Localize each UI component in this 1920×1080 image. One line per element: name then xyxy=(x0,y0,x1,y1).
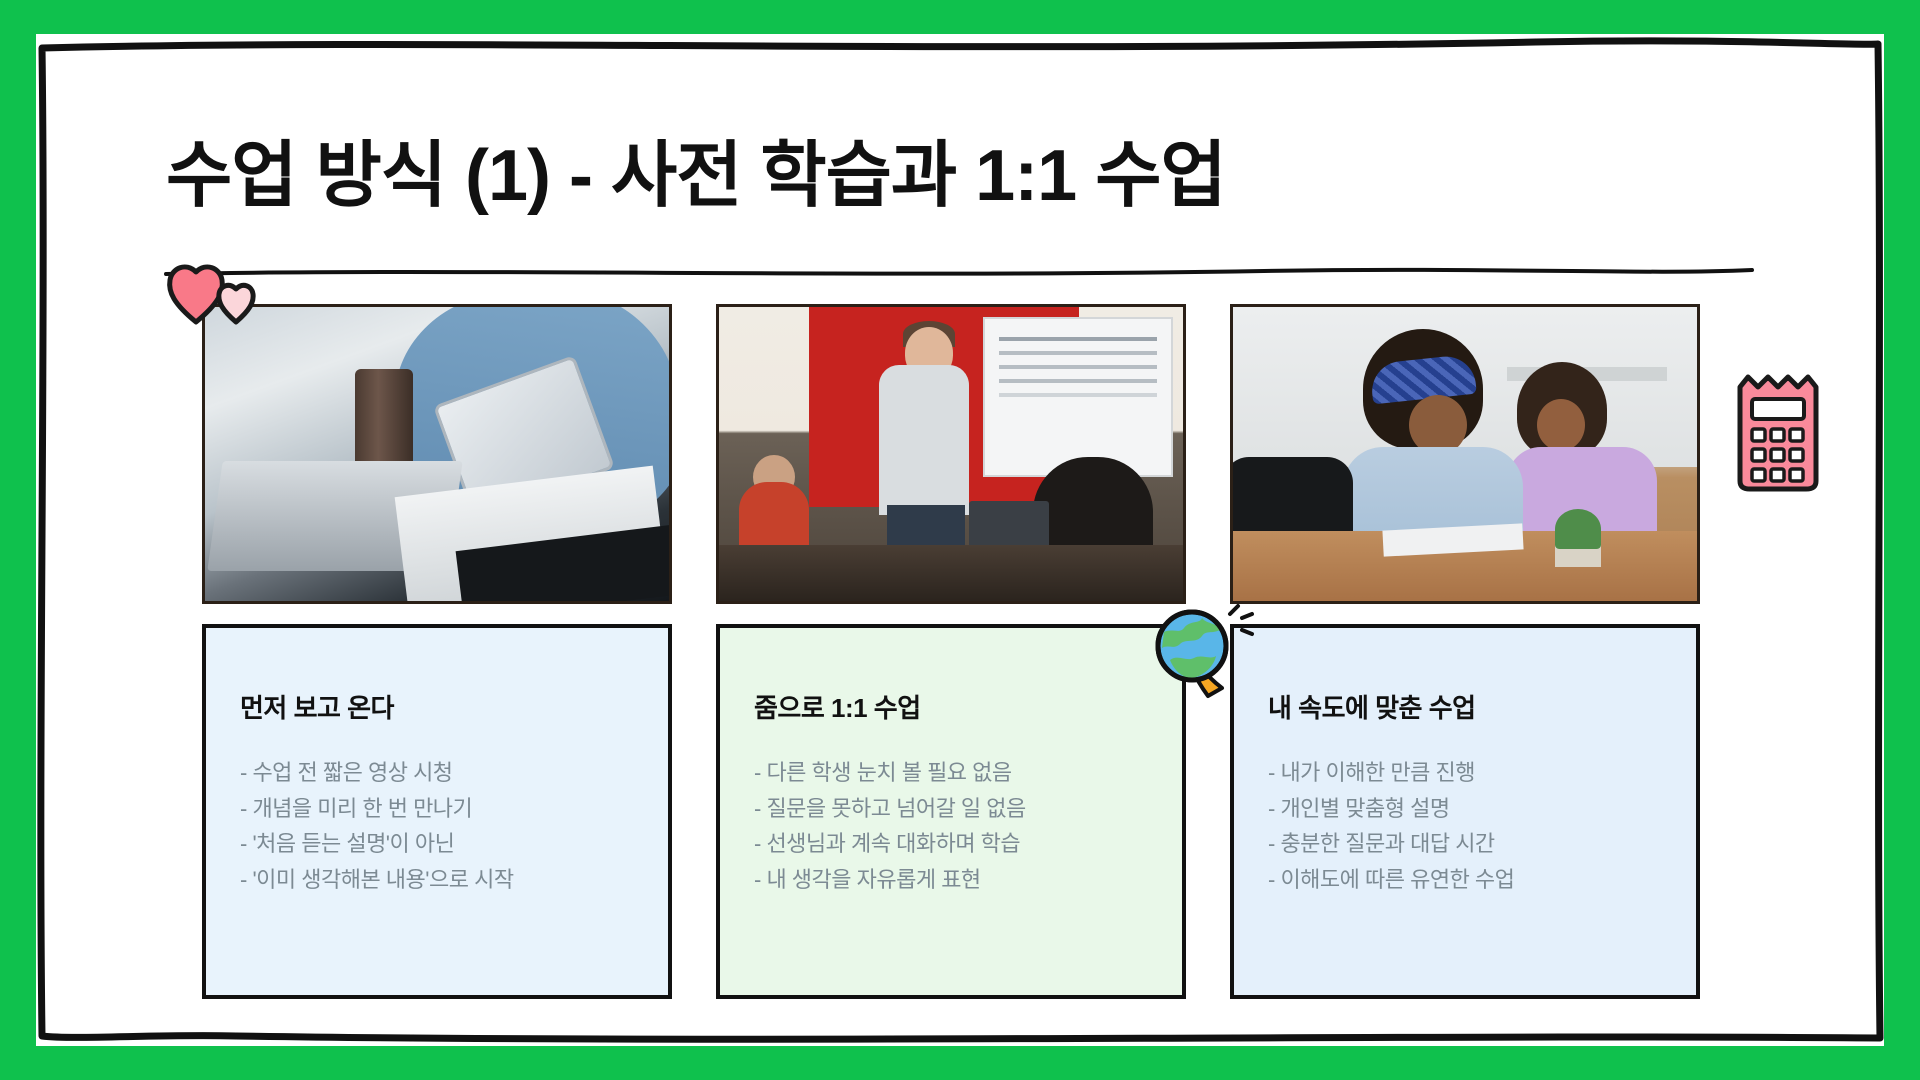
card-2-list: - 다른 학생 눈치 볼 필요 없음 - 질문을 못하고 넘어갈 일 없음 - … xyxy=(754,755,1148,898)
card-1-title: 먼저 보고 온다 xyxy=(240,688,634,725)
card-3-title: 내 속도에 맞춘 수업 xyxy=(1268,688,1662,725)
slide-title: 수업 방식 (1) - 사전 학습과 1:1 수업 xyxy=(166,116,1666,221)
list-item: - 개인별 맞춤형 설명 xyxy=(1268,791,1662,827)
title-underline xyxy=(164,266,1754,280)
slide-panel: 수업 방식 (1) - 사전 학습과 1:1 수업 먼저 보고 온다 - 수업 … xyxy=(36,34,1884,1046)
card-2: 줌으로 1:1 수업 - 다른 학생 눈치 볼 필요 없음 - 질문을 못하고 … xyxy=(716,624,1186,999)
list-item: - 내 생각을 자유롭게 표현 xyxy=(754,862,1148,898)
photo-classroom xyxy=(716,304,1186,604)
list-item: - 개념을 미리 한 번 만나기 xyxy=(240,791,634,827)
list-item: - 수업 전 짧은 영상 시청 xyxy=(240,755,634,791)
calculator-icon xyxy=(1724,369,1832,493)
photo-clinic xyxy=(202,304,672,604)
list-item: - 이해도에 따른 유연한 수업 xyxy=(1268,862,1662,898)
card-1-list: - 수업 전 짧은 영상 시청 - 개념을 미리 한 번 만나기 - '처음 듣… xyxy=(240,755,634,898)
list-item: - 충분한 질문과 대답 시간 xyxy=(1268,826,1662,862)
card-3-list: - 내가 이해한 만큼 진행 - 개인별 맞춤형 설명 - 충분한 질문과 대답… xyxy=(1268,755,1662,898)
column-2 xyxy=(716,304,1186,604)
column-1 xyxy=(202,304,672,604)
list-item: - '처음 듣는 설명'이 아닌 xyxy=(240,826,634,862)
card-3: 내 속도에 맞춘 수업 - 내가 이해한 만큼 진행 - 개인별 맞춤형 설명 … xyxy=(1230,624,1700,999)
photo-students xyxy=(1230,304,1700,604)
list-item: - 내가 이해한 만큼 진행 xyxy=(1268,755,1662,791)
column-3 xyxy=(1230,304,1700,604)
list-item: - '이미 생각해본 내용'으로 시작 xyxy=(240,862,634,898)
hearts-icon xyxy=(164,256,260,326)
list-item: - 선생님과 계속 대화하며 학습 xyxy=(754,826,1148,862)
list-item: - 질문을 못하고 넘어갈 일 없음 xyxy=(754,791,1148,827)
list-item: - 다른 학생 눈치 볼 필요 없음 xyxy=(754,755,1148,791)
card-2-title: 줌으로 1:1 수업 xyxy=(754,688,1148,725)
card-1: 먼저 보고 온다 - 수업 전 짧은 영상 시청 - 개념을 미리 한 번 만나… xyxy=(202,624,672,999)
globe-icon xyxy=(1144,604,1256,700)
